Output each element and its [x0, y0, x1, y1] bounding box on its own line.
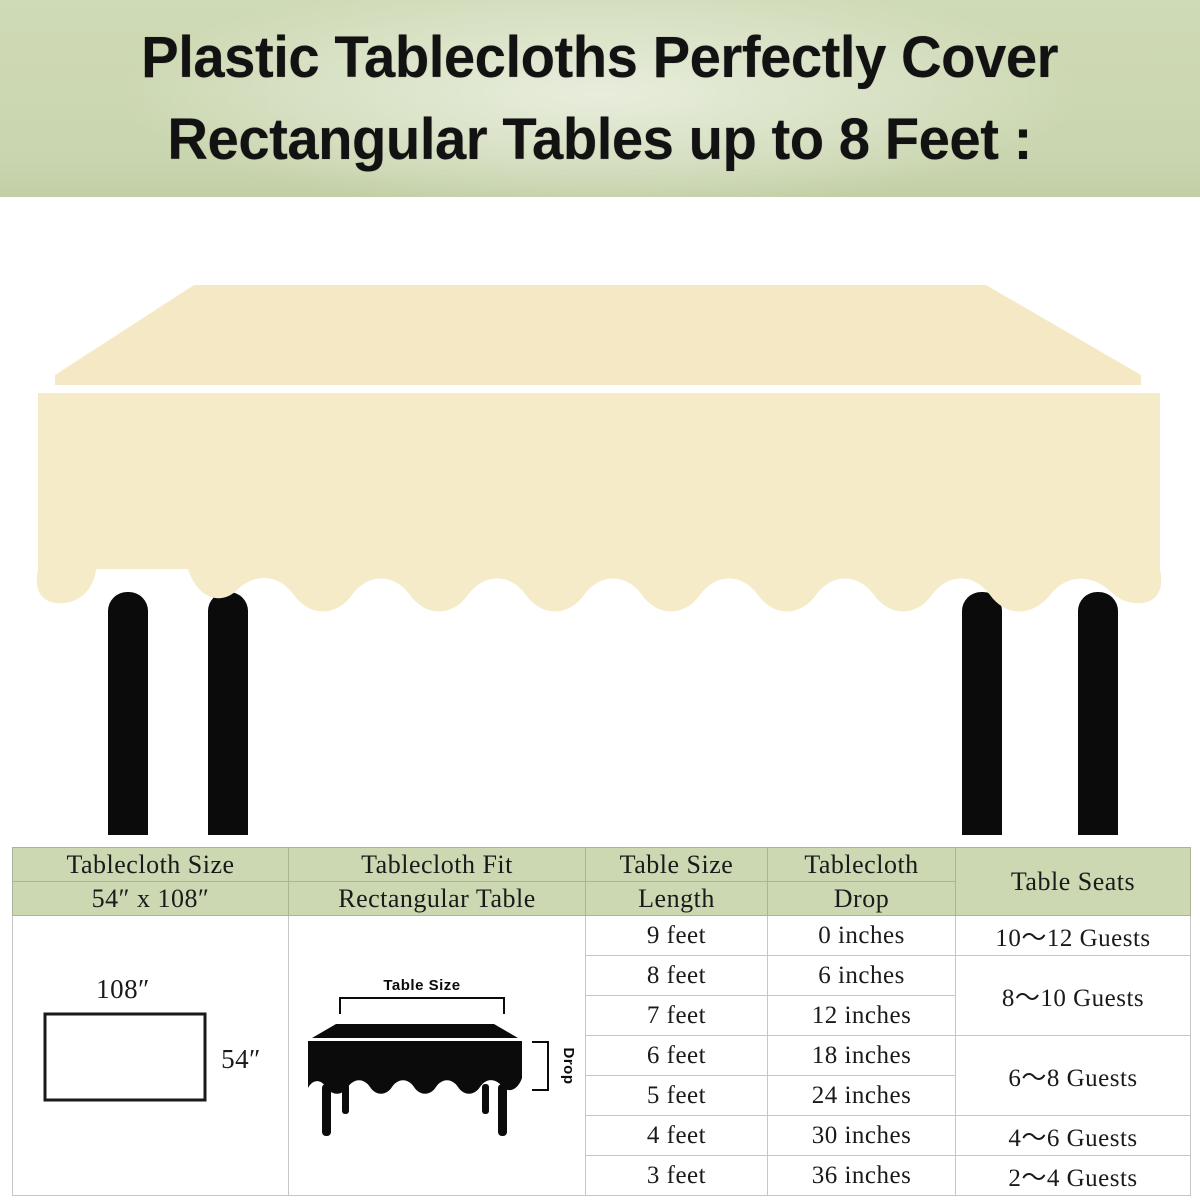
cell-tablecloth-drop: 12 inches — [768, 996, 956, 1036]
tablecloth-size-diagram: 108″ 54″ — [21, 956, 281, 1156]
size-diagram-rectangle — [45, 1014, 205, 1100]
table-leg-back-left — [208, 592, 248, 835]
cell-table-seats: 4～6 Guests — [956, 1116, 1191, 1156]
cell-table-length: 3 feet — [586, 1156, 768, 1196]
size-diagram-width-label: 108″ — [96, 974, 150, 1004]
cell-table-seats: 8～10 Guests — [956, 956, 1191, 1036]
fit-diagram-drop-bracket — [532, 1042, 548, 1090]
cell-tablecloth-drop: 24 inches — [768, 1076, 956, 1116]
tablecloth-top-surface — [55, 285, 1141, 385]
cell-table-seats: 2～4 Guests — [956, 1156, 1191, 1196]
size-diagram-height-label: 54″ — [221, 1044, 261, 1074]
cell-table-length: 4 feet — [586, 1116, 768, 1156]
fit-diagram-table-legs — [322, 1084, 507, 1136]
tablecloth-skirt — [38, 393, 1158, 612]
cell-size-diagram: 108″ 54″ — [13, 916, 289, 1196]
table-legs — [108, 592, 1118, 835]
fit-diagram-tabletop — [312, 1024, 518, 1038]
cell-tablecloth-drop: 30 inches — [768, 1116, 956, 1156]
banner-title-line-2: Rectangular Tables up to 8 Feet : — [168, 99, 1033, 181]
header-line-1: Tablecloth Size — [13, 848, 288, 882]
header-tablecloth-fit: Tablecloth Fit Rectangular Table — [289, 848, 586, 916]
cell-table-seats: 10～12 Guests — [956, 916, 1191, 956]
cell-tablecloth-drop: 0 inches — [768, 916, 956, 956]
fit-diagram-side-label: Drop — [560, 1047, 577, 1084]
tablecloth-spec-table: Tablecloth Size 54″ x 108″ Tablecloth Fi… — [12, 847, 1191, 1196]
table-row: 108″ 54″ Table Size — [13, 916, 1191, 956]
header-banner: Plastic Tablecloths Perfectly Cover Rect… — [0, 0, 1200, 197]
cell-table-length: 6 feet — [586, 1036, 768, 1076]
table-header-row: Tablecloth Size 54″ x 108″ Tablecloth Fi… — [13, 848, 1191, 916]
cell-table-length: 8 feet — [586, 956, 768, 996]
cell-table-length: 5 feet — [586, 1076, 768, 1116]
tablecloth-fit-diagram: Table Size — [296, 966, 578, 1146]
cell-fit-diagram: Table Size — [289, 916, 586, 1196]
tablecloth-left-drape — [37, 393, 96, 603]
cell-table-seats: 6～8 Guests — [956, 1036, 1191, 1116]
header-line-2: Length — [586, 882, 767, 915]
header-line-2: Rectangular Table — [289, 882, 585, 915]
cell-tablecloth-drop: 6 inches — [768, 956, 956, 996]
fit-diagram-top-bracket — [340, 998, 504, 1014]
fit-diagram-seam — [312, 1038, 518, 1041]
table-leg-back-right — [962, 592, 1002, 835]
tablecloth-right-drape — [1102, 393, 1161, 603]
header-line-2: Drop — [768, 882, 955, 915]
header-line-1: Tablecloth Fit — [289, 848, 585, 882]
table-leg-front-right — [1078, 592, 1118, 835]
header-tablecloth-drop: Tablecloth Drop — [768, 848, 956, 916]
table-leg-front-left — [108, 592, 148, 835]
header-line-1: Table Size — [586, 848, 767, 882]
fit-diagram-top-label: Table Size — [383, 977, 460, 994]
header-line-2: 54″ x 108″ — [13, 882, 288, 915]
tablecloth-illustration-svg — [0, 197, 1200, 835]
cell-tablecloth-drop: 36 inches — [768, 1156, 956, 1196]
fit-diagram-skirt — [308, 1041, 522, 1094]
tablecloth-seam — [55, 385, 1141, 393]
header-table-seats: Table Seats — [956, 848, 1191, 916]
cell-table-length: 9 feet — [586, 916, 768, 956]
tablecloth-illustration — [0, 197, 1200, 835]
banner-title-line-1: Plastic Tablecloths Perfectly Cover — [142, 17, 1059, 99]
header-table-size-length: Table Size Length — [586, 848, 768, 916]
cell-tablecloth-drop: 18 inches — [768, 1036, 956, 1076]
header-tablecloth-size: Tablecloth Size 54″ x 108″ — [13, 848, 289, 916]
cell-table-length: 7 feet — [586, 996, 768, 1036]
header-line-1: Tablecloth — [768, 848, 955, 882]
